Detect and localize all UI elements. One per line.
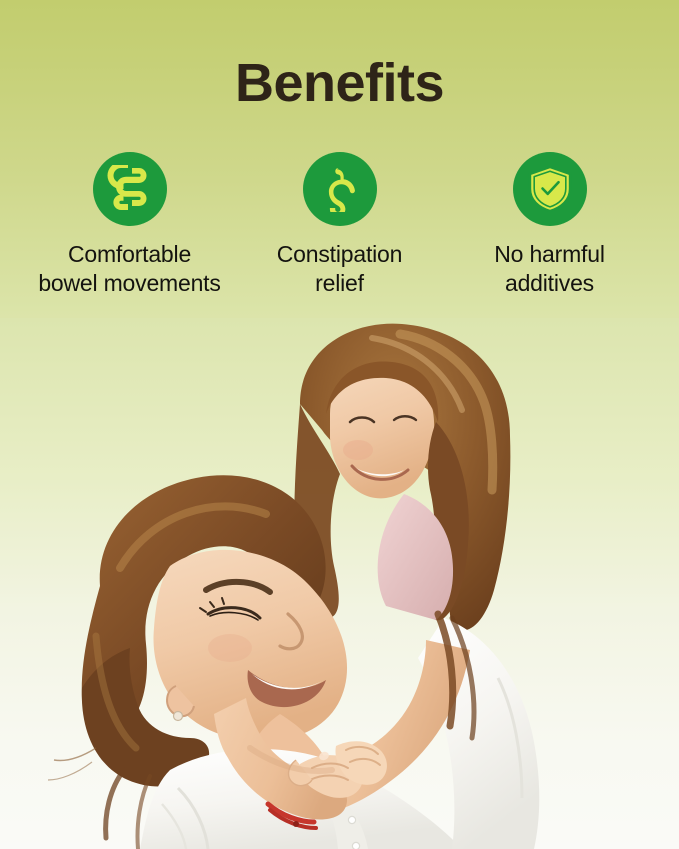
intestine-icon <box>106 165 154 213</box>
shield-check-icon <box>528 166 572 212</box>
benefit-item-constipation-relief: Constipation relief <box>235 152 445 299</box>
benefit-label-line-1: Constipation <box>277 241 402 267</box>
benefit-label-line-2: additives <box>505 270 594 296</box>
benefits-poster: Benefits Comfortable bowel movements <box>0 0 679 849</box>
benefit-label: Comfortable bowel movements <box>38 240 220 299</box>
benefit-label-line-2: relief <box>315 270 364 296</box>
page-title: Benefits <box>0 56 679 110</box>
benefit-label: Constipation relief <box>277 240 402 299</box>
lifestyle-photo <box>0 318 679 849</box>
shield-check-icon-circle <box>513 152 587 226</box>
benefits-row: Comfortable bowel movements Constipation… <box>0 152 679 299</box>
stomach-icon-circle <box>303 152 377 226</box>
benefit-item-no-harmful-additives: No harmful additives <box>445 152 655 299</box>
stomach-icon <box>317 166 363 212</box>
benefit-label: No harmful additives <box>494 240 605 299</box>
benefit-item-comfortable-bowel-movements: Comfortable bowel movements <box>25 152 235 299</box>
intestine-icon-circle <box>93 152 167 226</box>
benefit-label-line-1: No harmful <box>494 241 605 267</box>
benefit-label-line-1: Comfortable <box>68 241 191 267</box>
benefit-label-line-2: bowel movements <box>38 270 220 296</box>
